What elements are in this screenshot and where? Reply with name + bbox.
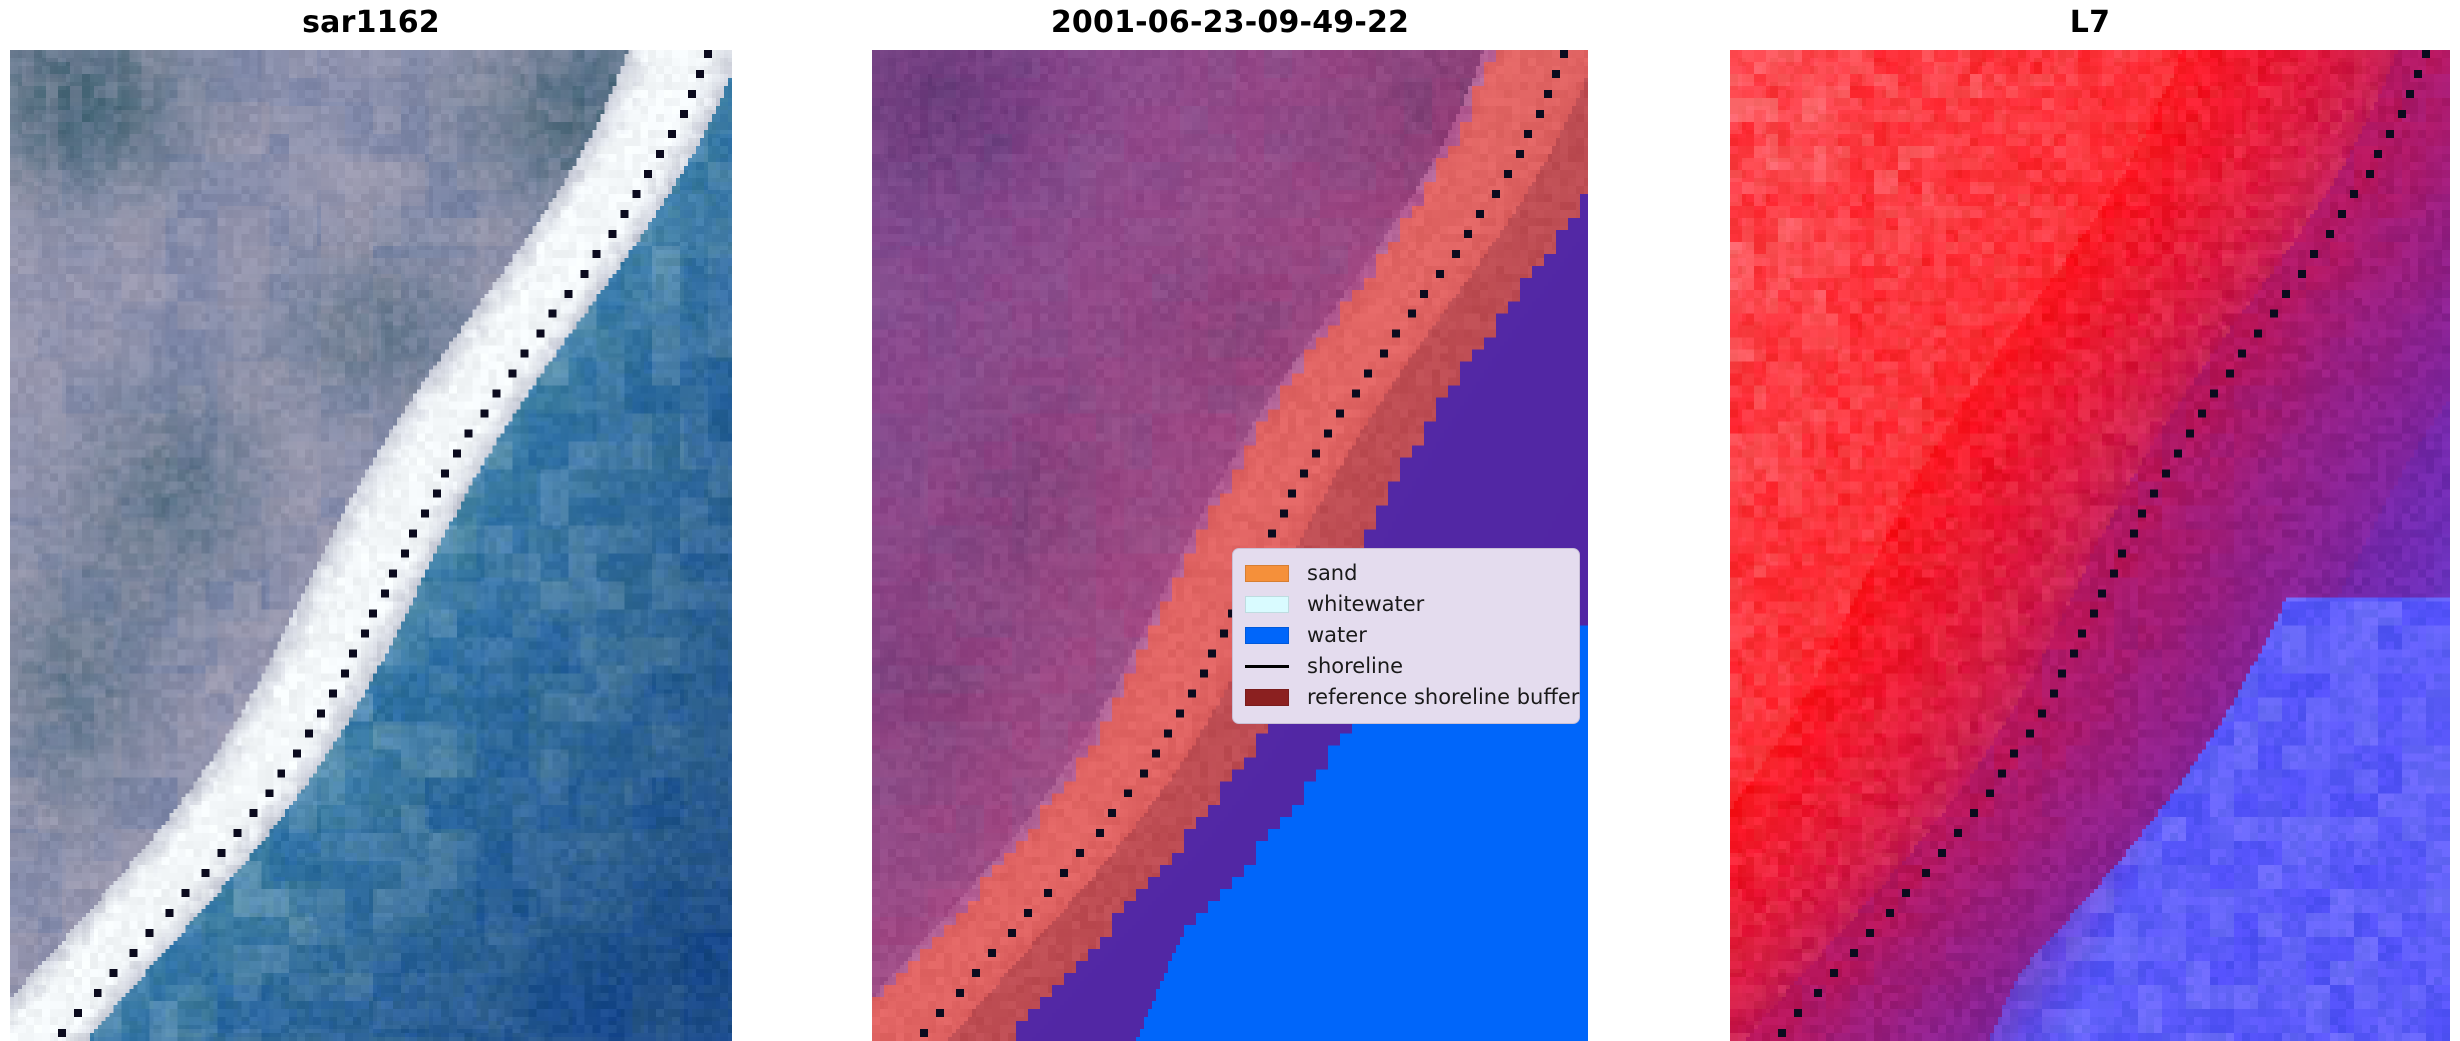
legend-swatch-water-icon — [1245, 627, 1289, 644]
legend-item-shoreline: shoreline — [1245, 651, 1567, 682]
panel-l7: L7 — [1730, 0, 2450, 1041]
legend-item-reference-shoreline-buffer: reference shoreline buffer — [1245, 682, 1567, 713]
panel-classified-image — [872, 50, 1588, 1041]
legend-item-water: water — [1245, 620, 1567, 651]
panel-l7-image — [1730, 50, 2450, 1041]
legend-item-sand: sand — [1245, 558, 1567, 589]
panel-sar1162: sar1162 — [10, 0, 732, 1041]
legend-label-reference-shoreline-buffer: reference shoreline buffer — [1307, 687, 1579, 708]
legend-swatch-sand-icon — [1245, 565, 1289, 582]
legend-label-shoreline: shoreline — [1307, 656, 1403, 677]
panel-classified: 2001-06-23-09-49-22 — [872, 0, 1588, 1041]
panel-sar1162-title: sar1162 — [10, 0, 732, 46]
panel-sar1162-image — [10, 50, 732, 1041]
legend-box: sand whitewater water shoreline referenc… — [1232, 548, 1580, 724]
legend-line-shoreline-icon — [1245, 658, 1289, 675]
legend-label-water: water — [1307, 625, 1367, 646]
legend-label-sand: sand — [1307, 563, 1357, 584]
panel-classified-title: 2001-06-23-09-49-22 — [872, 0, 1588, 46]
legend-item-whitewater: whitewater — [1245, 589, 1567, 620]
legend-swatch-reference-buffer-icon — [1245, 689, 1289, 706]
legend-swatch-whitewater-icon — [1245, 596, 1289, 613]
panel-l7-title: L7 — [1730, 0, 2450, 46]
legend-label-whitewater: whitewater — [1307, 594, 1424, 615]
figure-canvas: sar1162 2001-06-23-09-49-22 L7 sand whit… — [0, 0, 2460, 1041]
